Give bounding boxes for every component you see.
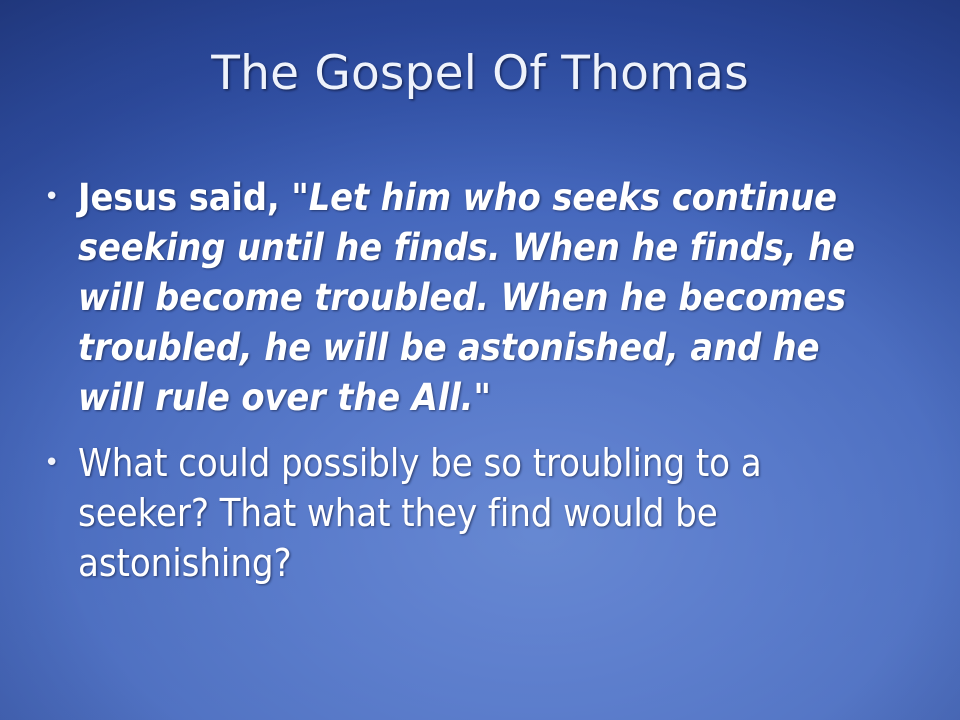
bullet-text-question: What could possibly be so troubling to a… — [78, 438, 868, 588]
bullet-dot-icon: • — [44, 438, 78, 488]
bullet-item-question: • What could possibly be so troubling to… — [44, 438, 924, 588]
bullet-quote-lead: Jesus said, — [78, 175, 291, 219]
slide-body-placeholder: • Jesus said, "Let him who seeks continu… — [44, 172, 924, 588]
page-title: The Gospel Of Thomas — [211, 46, 749, 101]
slide-title-placeholder: The Gospel Of Thomas — [48, 46, 912, 101]
bullet-text-quote: Jesus said, "Let him who seeks continue … — [78, 172, 896, 422]
presentation-slide: The Gospel Of Thomas • Jesus said, "Let … — [0, 0, 960, 720]
bullet-dot-icon: • — [44, 172, 78, 222]
bullet-item-quote: • Jesus said, "Let him who seeks continu… — [44, 172, 924, 422]
